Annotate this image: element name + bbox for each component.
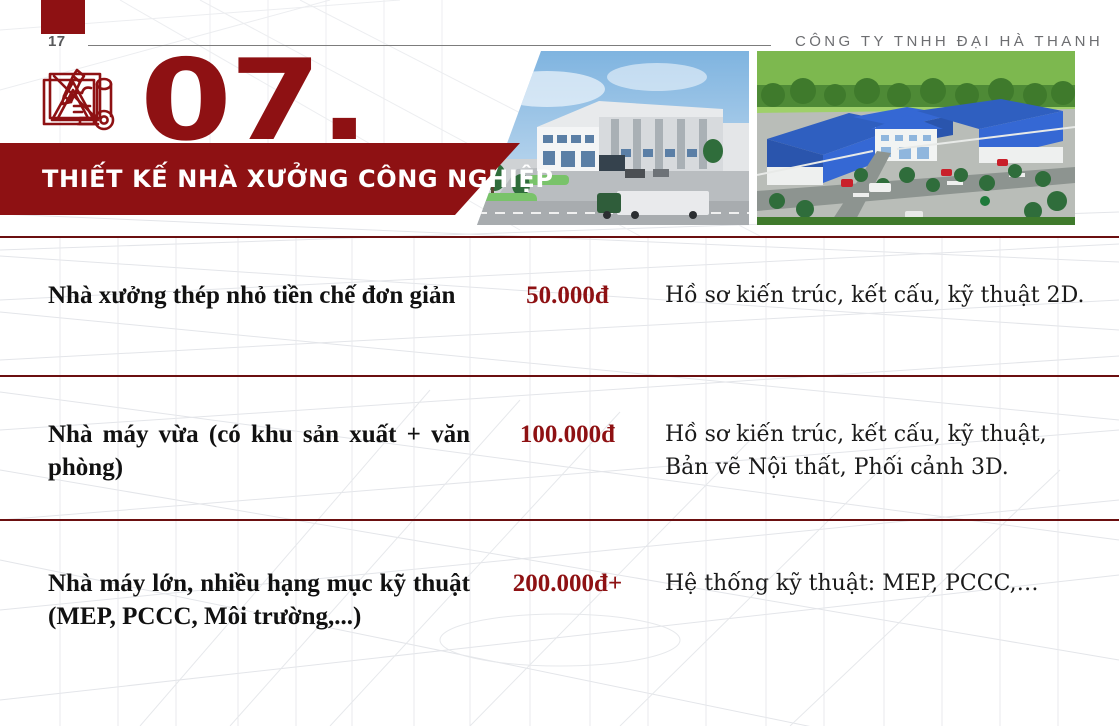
service-name: Nhà máy lớn, nhiều hạng mục kỹ thuật (ME… — [0, 567, 470, 633]
table-row: Nhà máy vừa (có khu sản xuất + văn phòng… — [0, 377, 1119, 519]
section-number: 07. — [140, 55, 367, 147]
table-row: Nhà máy lớn, nhiều hạng mục kỹ thuật (ME… — [0, 521, 1119, 661]
table-row: Nhà xưởng thép nhỏ tiền chế đơn giản 50.… — [0, 238, 1119, 375]
page-number: 17 — [48, 33, 66, 50]
service-price: 50.000đ — [470, 279, 665, 312]
pricing-table: Nhà xưởng thép nhỏ tiền chế đơn giản 50.… — [0, 236, 1119, 661]
service-name: Nhà xưởng thép nhỏ tiền chế đơn giản — [0, 279, 470, 312]
service-description: Hồ sơ kiến trúc, kết cấu, kỹ thuật 2D. — [665, 279, 1119, 312]
factory-aerial-photo — [757, 51, 1075, 225]
service-price: 100.000đ — [470, 418, 665, 451]
company-name: CÔNG TY TNHH ĐẠI HÀ THANH — [795, 33, 1103, 50]
blueprint-drawing-icon — [40, 62, 124, 142]
service-description: Hồ sơ kiến trúc, kết cấu, kỹ thuật, Bản … — [665, 418, 1119, 484]
section-title: THIẾT KẾ NHÀ XƯỞNG CÔNG NGHIỆP — [42, 165, 554, 193]
service-description: Hệ thống kỹ thuật: MEP, PCCC,… — [665, 567, 1119, 600]
page-marker-block — [41, 0, 85, 34]
service-price: 200.000đ+ — [470, 567, 665, 600]
service-name: Nhà máy vừa (có khu sản xuất + văn phòng… — [0, 418, 470, 484]
